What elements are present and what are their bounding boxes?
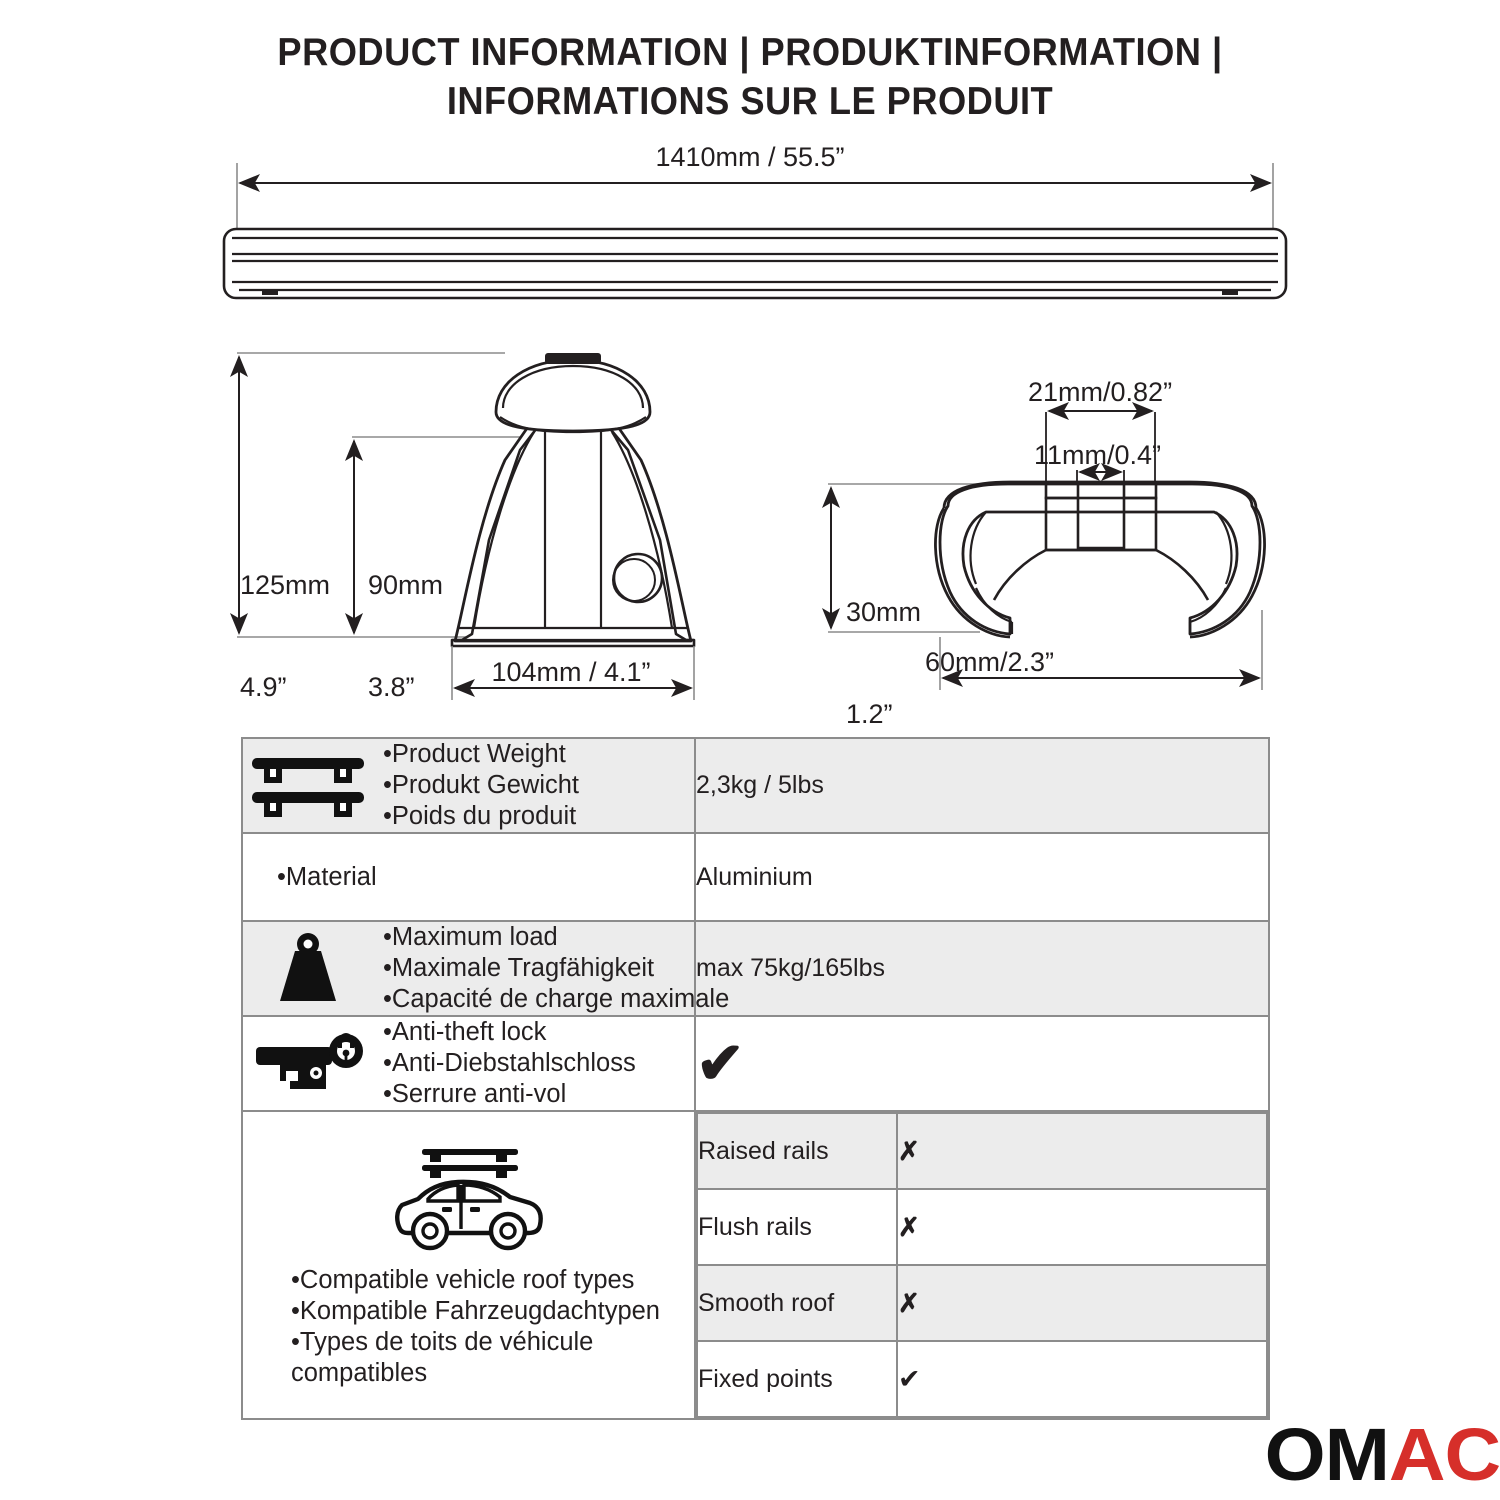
label-en: •Anti-theft lock [383, 1017, 636, 1048]
row-labels: •Anti-theft lock •Anti-Diebstahlschloss … [383, 1017, 636, 1110]
profile-height-mm: 30mm [846, 595, 921, 629]
title-line-1: PRODUCT INFORMATION | PRODUKTINFORMATION… [53, 28, 1448, 77]
table-row-material: •Material Aluminium [242, 833, 1269, 921]
label-en: •Product Weight [383, 739, 579, 770]
omac-logo: OM AC [1265, 1418, 1500, 1492]
row-label-cell: •Maximum load •Maximale Tragfähigkeit •C… [242, 921, 695, 1016]
row-labels: •Maximum load •Maximale Tragfähigkeit •C… [383, 922, 729, 1015]
table-row-maximum-load: •Maximum load •Maximale Tragfähigkeit •C… [242, 921, 1269, 1016]
lock-icon [243, 1027, 373, 1101]
row-label-cell: •Anti-theft lock •Anti-Diebstahlschloss … [242, 1016, 695, 1111]
roof-type-mark: ✗ [897, 1113, 1267, 1189]
roof-types-table: Raised rails ✗ Flush rails ✗ [696, 1112, 1268, 1418]
table-row-roof-types: •Compatible vehicle roof types •Kompatib… [242, 1111, 1269, 1419]
weight-icon [243, 931, 373, 1007]
profile-width-label: 60mm/2.3” [925, 645, 1054, 679]
product-spec-table: •Product Weight •Produkt Gewicht •Poids … [241, 737, 1270, 1420]
row-label-cell: •Product Weight •Produkt Gewicht •Poids … [242, 738, 695, 833]
row-value-product-weight: 2,3kg / 5lbs [695, 738, 1269, 833]
label-en: •Compatible vehicle roof types [291, 1265, 694, 1296]
foot-width-label: 104mm / 4.1” [447, 655, 695, 689]
logo-text-black: OM [1265, 1418, 1389, 1492]
roof-types-value-cell: Raised rails ✗ Flush rails ✗ [695, 1111, 1269, 1419]
check-mark: ✔ [696, 1031, 745, 1096]
car-with-roofrack-icon [243, 1141, 694, 1259]
row-label-cell: •Material [242, 833, 695, 921]
foot-inner-height-mm: 90mm [368, 568, 443, 602]
row-value-maximum-load: max 75kg/165lbs [695, 921, 1269, 1016]
crossbar-length-drawing [224, 163, 1286, 298]
roof-type-name: Smooth roof [697, 1265, 897, 1341]
row-value-material: Aluminium [695, 833, 1269, 921]
label-fr-cont: compatibles [291, 1358, 694, 1389]
roof-type-row-smooth-roof: Smooth roof ✗ [697, 1265, 1267, 1341]
label-de: •Anti-Diebstahlschloss [383, 1048, 636, 1079]
table-row-anti-theft-lock: •Anti-theft lock •Anti-Diebstahlschloss … [242, 1016, 1269, 1111]
roof-type-row-fixed-points: Fixed points ✔ [697, 1341, 1267, 1417]
roof-type-name: Fixed points [697, 1341, 897, 1417]
page-title: PRODUCT INFORMATION | PRODUKTINFORMATION… [0, 28, 1500, 126]
title-line-2: INFORMATIONS SUR LE PRODUIT [53, 77, 1448, 126]
logo-text-red: AC [1389, 1418, 1500, 1492]
label-de: •Produkt Gewicht [383, 770, 579, 801]
profile-slot-width-label: 11mm/0.4” [1034, 438, 1161, 472]
row-label-cell-roof-types: •Compatible vehicle roof types •Kompatib… [242, 1111, 695, 1419]
check-mark-icon: ✔ [898, 1364, 921, 1394]
profile-top-width-label: 21mm/0.82” [1028, 375, 1172, 409]
x-mark-icon: ✗ [898, 1212, 920, 1242]
roof-type-row-raised-rails: Raised rails ✗ [697, 1113, 1267, 1189]
row-value-anti-theft-lock: ✔ [695, 1016, 1269, 1111]
row-labels: •Product Weight •Produkt Gewicht •Poids … [383, 739, 579, 832]
foot-total-height-label: 125mm 4.9” [240, 500, 330, 738]
label-fr: •Poids du produit [383, 801, 579, 832]
profile-height-label: 30mm 1.2” [846, 527, 921, 765]
x-mark-icon: ✗ [898, 1288, 920, 1318]
roof-type-mark: ✔ [897, 1341, 1267, 1417]
roof-type-row-flush-rails: Flush rails ✗ [697, 1189, 1267, 1265]
label-en: •Material [277, 862, 377, 893]
crossbars-icon [243, 750, 373, 822]
table-row-product-weight: •Product Weight •Produkt Gewicht •Poids … [242, 738, 1269, 833]
label-fr: •Capacité de charge maximale [383, 984, 729, 1015]
x-mark-icon: ✗ [898, 1136, 920, 1166]
label-de: •Maximale Tragfähigkeit [383, 953, 729, 984]
roof-type-name: Flush rails [697, 1189, 897, 1265]
foot-total-height-mm: 125mm [240, 568, 330, 602]
roof-row-labels: •Compatible vehicle roof types •Kompatib… [243, 1265, 694, 1389]
row-labels: •Material [243, 862, 377, 893]
roof-type-mark: ✗ [897, 1265, 1267, 1341]
foot-inner-height-in: 3.8” [368, 670, 443, 704]
foot-inner-height-label: 90mm 3.8” [368, 500, 443, 738]
label-en: •Maximum load [383, 922, 729, 953]
roof-type-name: Raised rails [697, 1113, 897, 1189]
bar-length-label: 1410mm / 55.5” [0, 140, 1500, 174]
label-fr: •Types de toits de véhicule [291, 1327, 694, 1358]
label-de: •Kompatible Fahrzeugdachtypen [291, 1296, 694, 1327]
profile-height-in: 1.2” [846, 697, 921, 731]
label-fr: •Serrure anti-vol [383, 1079, 636, 1110]
roof-type-mark: ✗ [897, 1189, 1267, 1265]
foot-total-height-in: 4.9” [240, 670, 330, 704]
